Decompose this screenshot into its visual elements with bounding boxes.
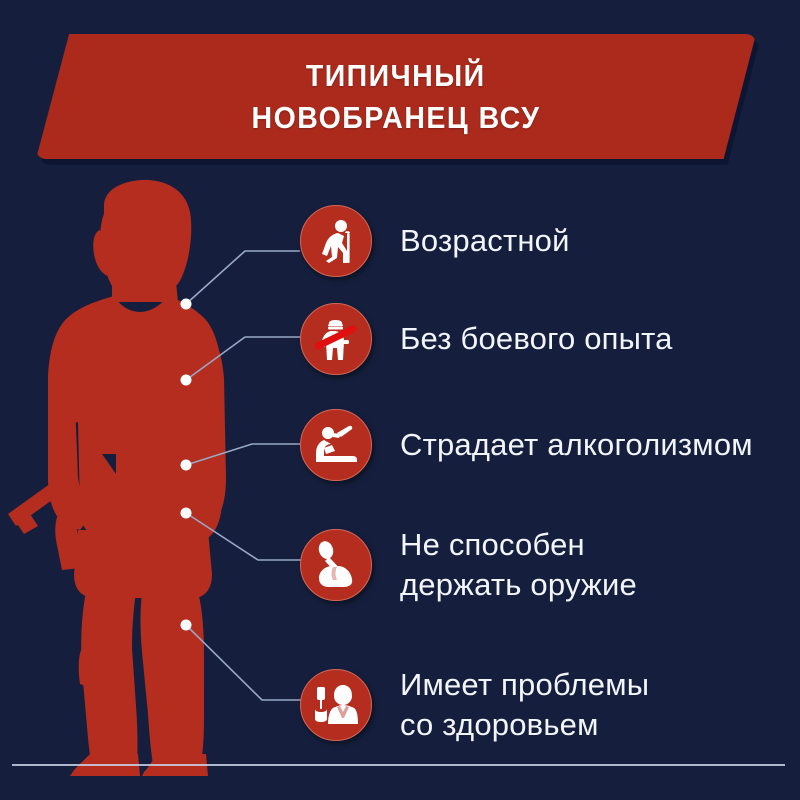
soldier-silhouette bbox=[8, 178, 268, 778]
list-item-1[interactable]: Возрастной bbox=[300, 205, 570, 277]
list-item-5[interactable]: Имеет проблемы со здоровьем bbox=[300, 665, 649, 744]
list-item-3-label: Страдает алкоголизмом bbox=[400, 425, 753, 465]
list-item-3[interactable]: Страдает алкоголизмом bbox=[300, 409, 753, 481]
no-combat-soldier-icon[interactable] bbox=[300, 303, 372, 375]
infographic-canvas: ТИПИЧНЫЙ НОВОБРАНЕЦ ВСУ bbox=[0, 0, 800, 800]
elderly-person-with-cane-icon[interactable] bbox=[300, 205, 372, 277]
list-item-4-label: Не способен держать оружие bbox=[400, 525, 637, 604]
drinking-alcohol-icon[interactable] bbox=[300, 409, 372, 481]
list-item-1-label: Возрастной bbox=[400, 221, 570, 261]
list-item-5-label: Имеет проблемы со здоровьем bbox=[400, 665, 649, 744]
header-banner: ТИПИЧНЫЙ НОВОБРАНЕЦ ВСУ bbox=[0, 0, 800, 180]
banner-title-line-2: НОВОБРАНЕЦ ВСУ bbox=[252, 97, 541, 139]
ground-line bbox=[12, 764, 785, 766]
list-item-2-label: Без боевого опыта bbox=[400, 319, 673, 359]
list-item-4[interactable]: Не способен держать оружие bbox=[300, 525, 637, 604]
list-item-2[interactable]: Без боевого опыта bbox=[300, 303, 673, 375]
banner-plate: ТИПИЧНЫЙ НОВОБРАНЕЦ ВСУ bbox=[36, 34, 756, 159]
medical-iv-patient-icon[interactable] bbox=[300, 669, 372, 741]
banner-title-line-1: ТИПИЧНЫЙ bbox=[306, 55, 486, 97]
hand-holding-spoon-icon[interactable] bbox=[300, 529, 372, 601]
